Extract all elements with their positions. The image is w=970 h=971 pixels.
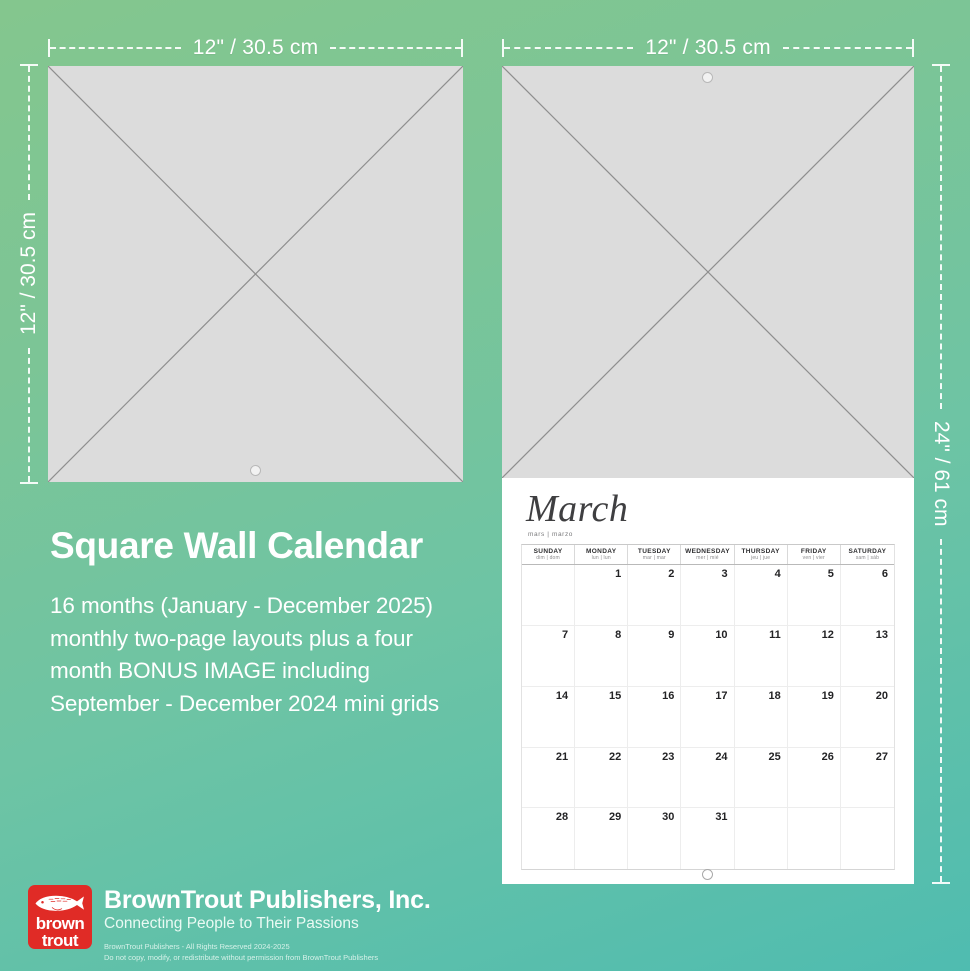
dimension-rule-bottom [940, 539, 942, 882]
calendar-weeks: 1 2 3 4 5 6 7 8 9 10 11 12 13 14 [522, 565, 894, 869]
weekday-translations: sam | sáb [841, 555, 894, 561]
dimension-rule-bottom [28, 348, 30, 482]
dimension-top-right: 12" / 30.5 cm [502, 36, 914, 60]
weekday-name: MONDAY [575, 548, 627, 555]
dimension-rule-left [50, 47, 181, 49]
dimension-cap-end [912, 39, 914, 57]
dimension-right-vertical-label: 24" / 61 cm [929, 409, 953, 539]
trout-fish-icon [32, 892, 88, 914]
calendar-day-cell: 24 [681, 748, 734, 808]
calendar-month-heading: March mars | marzo [526, 490, 628, 538]
calendar-day-cell: 18 [735, 687, 788, 747]
calendar-week-row: 14 15 16 17 18 19 20 [522, 687, 894, 748]
weekday-header-wednesday: WEDNESDAY mer | mié [681, 545, 734, 564]
dimension-rule-left [504, 47, 633, 49]
weekday-header-friday: FRIDAY ven | vier [788, 545, 841, 564]
calendar-day-cell: 17 [681, 687, 734, 747]
weekday-header-tuesday: TUESDAY mar | mar [628, 545, 681, 564]
description-line: 16 months (January - December 2025) [50, 590, 500, 623]
calendar-day-cell: 6 [841, 565, 894, 625]
publisher-footer: brown trout BrownTrout Publishers, Inc. … [28, 885, 431, 963]
month-name: March [526, 490, 628, 528]
calendar-day-cell [841, 808, 894, 869]
calendar-day-cell [788, 808, 841, 869]
calendar-day-cell: 23 [628, 748, 681, 808]
calendar-image-page-panel [502, 66, 914, 478]
product-description: 16 months (January - December 2025) mont… [50, 590, 500, 721]
description-line: monthly two-page layouts plus a four [50, 623, 500, 656]
weekday-translations: jeu | jue [735, 555, 787, 561]
calendar-weekday-header: SUNDAY dim | dom MONDAY lun | lun TUESDA… [522, 545, 894, 565]
browntrout-logo: brown trout [28, 885, 92, 949]
calendar-day-cell: 3 [681, 565, 734, 625]
weekday-translations: mar | mar [628, 555, 680, 561]
calendar-day-cell: 29 [575, 808, 628, 869]
weekday-translations: ven | vier [788, 555, 840, 561]
calendar-week-row: 1 2 3 4 5 6 [522, 565, 894, 626]
calendar-week-row: 21 22 23 24 25 26 27 [522, 748, 894, 809]
placeholder-cross-icon [502, 66, 914, 478]
dimension-top-right-label: 12" / 30.5 cm [633, 36, 783, 60]
calendar-day-cell: 28 [522, 808, 575, 869]
calendar-cover-panel [48, 66, 463, 482]
weekday-name: SUNDAY [522, 548, 574, 555]
publisher-name: BrownTrout Publishers, Inc. [104, 887, 431, 913]
dimension-rule-right [783, 47, 912, 49]
calendar-day-cell [522, 565, 575, 625]
weekday-name: WEDNESDAY [681, 548, 733, 555]
calendar-week-row: 28 29 30 31 [522, 808, 894, 869]
calendar-day-cell: 2 [628, 565, 681, 625]
hanging-hole-icon [702, 72, 713, 83]
weekday-name: THURSDAY [735, 548, 787, 555]
weekday-header-sunday: SUNDAY dim | dom [522, 545, 575, 564]
dimension-cap-end [932, 882, 950, 884]
dimension-rule-top [28, 66, 30, 200]
publisher-tagline: Connecting People to Their Passions [104, 914, 431, 934]
calendar-day-cell: 21 [522, 748, 575, 808]
calendar-day-cell: 22 [575, 748, 628, 808]
weekday-name: SATURDAY [841, 548, 894, 555]
dimension-cap-end [20, 482, 38, 484]
dimension-right-vertical: 24" / 61 cm [928, 64, 954, 884]
calendar-day-cell: 13 [841, 626, 894, 686]
calendar-day-cell: 1 [575, 565, 628, 625]
calendar-day-cell: 27 [841, 748, 894, 808]
logo-word-trout: trout [28, 932, 92, 949]
calendar-day-cell: 20 [841, 687, 894, 747]
description-line: month BONUS IMAGE including [50, 655, 500, 688]
dimension-left-vertical: 12" / 30.5 cm [16, 64, 42, 484]
calendar-day-cell: 7 [522, 626, 575, 686]
calendar-day-cell: 8 [575, 626, 628, 686]
dimension-rule-right [330, 47, 461, 49]
hanging-hole-icon [702, 869, 713, 880]
calendar-day-cell: 12 [788, 626, 841, 686]
copyright-line-2: Do not copy, modify, or redistribute wit… [104, 952, 431, 963]
dimension-left-vertical-label: 12" / 30.5 cm [17, 200, 41, 347]
weekday-name: TUESDAY [628, 548, 680, 555]
calendar-day-cell: 5 [788, 565, 841, 625]
weekday-translations: lun | lun [575, 555, 627, 561]
calendar-grid-page: March mars | marzo SUNDAY dim | dom MOND… [502, 478, 914, 884]
calendar-day-cell: 10 [681, 626, 734, 686]
month-name-translations: mars | marzo [528, 531, 628, 538]
dimension-top-left: 12" / 30.5 cm [48, 36, 463, 60]
weekday-name: FRIDAY [788, 548, 840, 555]
placeholder-cross-icon [48, 66, 463, 482]
calendar-day-cell: 31 [681, 808, 734, 869]
weekday-translations: dim | dom [522, 555, 574, 561]
weekday-translations: mer | mié [681, 555, 733, 561]
dimension-rule-top [940, 66, 942, 409]
weekday-header-monday: MONDAY lun | lun [575, 545, 628, 564]
calendar-week-row: 7 8 9 10 11 12 13 [522, 626, 894, 687]
calendar-day-cell: 11 [735, 626, 788, 686]
calendar-day-cell: 30 [628, 808, 681, 869]
calendar-month-grid: SUNDAY dim | dom MONDAY lun | lun TUESDA… [521, 544, 895, 870]
calendar-day-cell: 19 [788, 687, 841, 747]
copyright-line-1: BrownTrout Publishers - All Rights Reser… [104, 941, 431, 952]
calendar-day-cell: 14 [522, 687, 575, 747]
product-dimension-infographic: 12" / 30.5 cm 12" / 30.5 cm 12" / 30.5 c… [0, 0, 970, 971]
dimension-cap-end [461, 39, 463, 57]
publisher-info: BrownTrout Publishers, Inc. Connecting P… [104, 885, 431, 963]
calendar-day-cell: 26 [788, 748, 841, 808]
weekday-header-thursday: THURSDAY jeu | jue [735, 545, 788, 564]
description-line: September - December 2024 mini grids [50, 688, 500, 721]
dimension-top-left-label: 12" / 30.5 cm [181, 36, 331, 60]
product-headline: Square Wall Calendar [50, 525, 423, 567]
calendar-day-cell: 25 [735, 748, 788, 808]
calendar-day-cell [735, 808, 788, 869]
calendar-day-cell: 9 [628, 626, 681, 686]
calendar-day-cell: 16 [628, 687, 681, 747]
logo-word-brown: brown [28, 915, 92, 932]
calendar-day-cell: 15 [575, 687, 628, 747]
hanging-hole-icon [250, 465, 261, 476]
weekday-header-saturday: SATURDAY sam | sáb [841, 545, 894, 564]
calendar-day-cell: 4 [735, 565, 788, 625]
copyright-notice: BrownTrout Publishers - All Rights Reser… [104, 941, 431, 964]
